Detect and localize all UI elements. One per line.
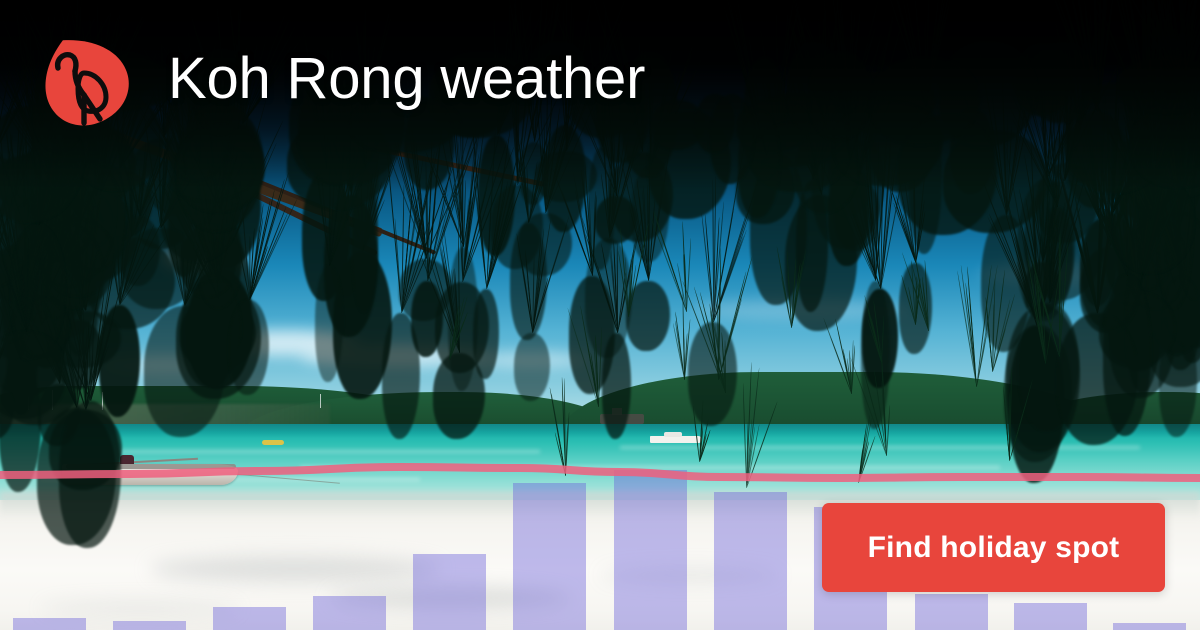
stork-in-red-droplet-logo[interactable] bbox=[38, 33, 130, 127]
social-card: Koh Rong weather Find holiday spot bbox=[0, 0, 1200, 630]
find-holiday-spot-label: Find holiday spot bbox=[868, 531, 1120, 565]
page-title: Koh Rong weather bbox=[168, 42, 645, 116]
find-holiday-spot-button[interactable]: Find holiday spot bbox=[822, 503, 1165, 592]
temperature-line-path bbox=[0, 467, 1200, 478]
